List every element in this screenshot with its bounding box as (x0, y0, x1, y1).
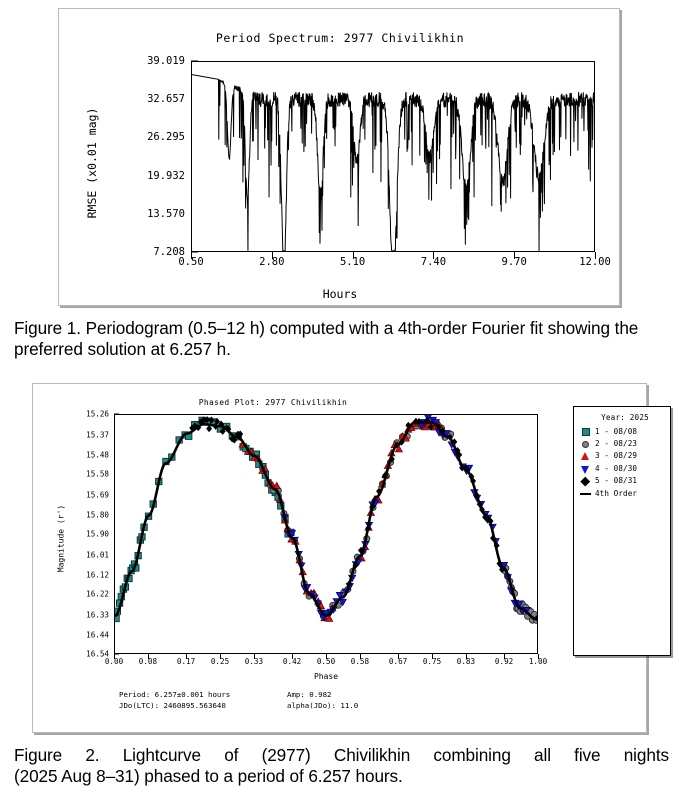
phased-plot-y-tick-labels: 15.2615.3715.4815.5815.6915.8015.9016.01… (33, 414, 109, 654)
square-marker (580, 426, 591, 437)
legend-entry-label: 1 - 08/08 (595, 427, 637, 436)
alpha-annotation: alpha(JDo): 11.0 (287, 700, 358, 711)
periodogram-y-tick-label: 39.019 (147, 55, 185, 67)
legend-entry[interactable]: 5 - 08/31 (580, 475, 666, 487)
phased-plot-x-tick-label: 0.17 (177, 657, 195, 666)
phased-plot-x-tick-label: 0.50 (317, 657, 335, 666)
legend-entry[interactable]: 3 - 08/29 (580, 450, 666, 462)
legend-entry-label: 5 - 08/31 (595, 476, 637, 485)
figure-2-caption-line-2: (2025 Aug 8–31) phased to a period of 6.… (14, 766, 403, 786)
annotation-row: JDo(LTC): 2460895.563640 alpha(JDo): 11.… (119, 700, 519, 711)
periodogram-trace (192, 75, 594, 251)
jdo-annotation: JDo(LTC): 2460895.563640 (119, 700, 287, 711)
phased-plot-y-tick-label: 15.90 (86, 530, 109, 539)
periodogram-plot-area (191, 61, 595, 252)
phased-plot-annotations: Period: 6.257±0.001 hours Amp: 0.982 JDo… (119, 689, 519, 711)
phased-plot-x-tick-label: 0.83 (457, 657, 475, 666)
phased-plot-x-axis-title: Phase (114, 672, 538, 681)
figure-2-panel: Phased Plot: 2977 Chivilikhin Magnitude … (32, 383, 647, 733)
phased-plot-x-tick-labels: 0.000.080.170.250.330.420.500.580.670.75… (114, 657, 538, 671)
legend-entry-label: 4 - 08/30 (595, 464, 637, 473)
figure-1-caption: Figure 1. Periodogram (0.5–12 h) compute… (14, 318, 669, 360)
triangle-down-marker (580, 463, 591, 474)
legend-entry[interactable]: 1 - 08/08 (580, 425, 666, 437)
phased-plot-x-tick-label: 0.00 (105, 657, 123, 666)
phased-plot-x-tick-label: 0.92 (495, 657, 513, 666)
phased-plot-x-tick-label: 0.67 (389, 657, 407, 666)
legend-entry[interactable]: 2 - 08/23 (580, 437, 666, 449)
figure-1-panel: Period Spectrum: 2977 Chivilikhin RMSE (… (58, 8, 620, 306)
periodogram-x-tick-label: 7.40 (421, 256, 446, 268)
phased-plot-y-tick-label: 16.22 (86, 590, 109, 599)
legend-entry-label: 2 - 08/23 (595, 439, 637, 448)
phased-plot-x-tick-label: 0.75 (423, 657, 441, 666)
triangle-up-marker (580, 450, 591, 461)
legend-entry-label: 4th Order (595, 489, 637, 498)
phased-plot-x-tick-label: 0.33 (245, 657, 263, 666)
phased-plot-legend: Year: 2025 1 - 08/082 - 08/233 - 08/294 … (573, 406, 671, 656)
periodogram-y-tick-label: 19.932 (147, 170, 185, 182)
phased-plot-area (114, 414, 538, 654)
legend-entry-label: 3 - 08/29 (595, 451, 637, 460)
phased-plot-y-tick-label: 15.58 (86, 470, 109, 479)
periodogram-svg (192, 62, 594, 251)
fourier-fit-curve (115, 422, 537, 619)
periodogram-line (192, 75, 594, 251)
phased-plot-x-tick-label: 0.42 (283, 657, 301, 666)
phased-plot-y-tick-label: 15.26 (86, 410, 109, 419)
phased-plot-title: Phased Plot: 2977 Chivilikhin (33, 398, 513, 407)
figure-2-caption-line-1: Figure 2. Lightcurve of (2977) Chivilikh… (14, 745, 669, 766)
periodogram-x-tick-label: 5.10 (340, 256, 365, 268)
legend-entry[interactable]: 4 - 08/30 (580, 462, 666, 474)
figure-page: Period Spectrum: 2977 Chivilikhin RMSE (… (0, 0, 679, 793)
periodogram-x-tick-label: 2.80 (259, 256, 284, 268)
periodogram-y-tick-label: 26.295 (147, 131, 185, 143)
periodogram-x-tick-label: 12.00 (579, 256, 611, 268)
periodogram-x-tick-label: 0.50 (178, 256, 203, 268)
diamond-marker (580, 475, 591, 486)
periodogram-y-tick-labels: 39.01932.65726.29519.93213.5707.208 (59, 61, 185, 252)
periodogram-title: Period Spectrum: 2977 Chivilikhin (59, 31, 621, 45)
phased-plot-y-tick-label: 15.80 (86, 511, 109, 520)
periodogram-y-tick-label: 32.657 (147, 93, 185, 105)
phased-plot-y-tick-label: 15.69 (86, 490, 109, 499)
phased-plot-x-tick-label: 0.58 (351, 657, 369, 666)
phased-plot-y-tick-label: 16.01 (86, 550, 109, 559)
amplitude-annotation: Amp: 0.982 (287, 689, 332, 700)
periodogram-x-axis-title: Hours (59, 287, 621, 301)
annotation-row: Period: 6.257±0.001 hours Amp: 0.982 (119, 689, 519, 700)
phased-plot-y-tick-label: 15.37 (86, 430, 109, 439)
phased-plot-x-tick-label: 1.00 (529, 657, 547, 666)
phased-plot-y-tick-label: 16.33 (86, 610, 109, 619)
legend-entries: 1 - 08/082 - 08/233 - 08/294 - 08/305 - … (580, 425, 666, 499)
phased-plot-x-tick-label: 0.25 (211, 657, 229, 666)
circle-marker (580, 438, 591, 449)
phased-plot-svg (115, 415, 537, 653)
periodogram-y-tick-label: 13.570 (147, 208, 185, 220)
phased-plot-x-tick-label: 0.08 (139, 657, 157, 666)
legend-entry[interactable]: 4th Order (580, 487, 666, 499)
legend-title: Year: 2025 (584, 413, 666, 422)
periodogram-x-tick-label: 9.70 (502, 256, 527, 268)
figure-2-caption: Figure 2. Lightcurve of (2977) Chivilikh… (14, 745, 669, 787)
phased-plot-y-tick-label: 16.12 (86, 571, 109, 580)
phased-plot-y-tick-label: 15.48 (86, 451, 109, 460)
periodogram-x-tick-labels: 0.502.805.107.409.7012.00 (191, 256, 595, 272)
period-annotation: Period: 6.257±0.001 hours (119, 689, 287, 700)
phased-plot-y-tick-label: 16.44 (86, 631, 109, 640)
line-marker (580, 488, 591, 499)
